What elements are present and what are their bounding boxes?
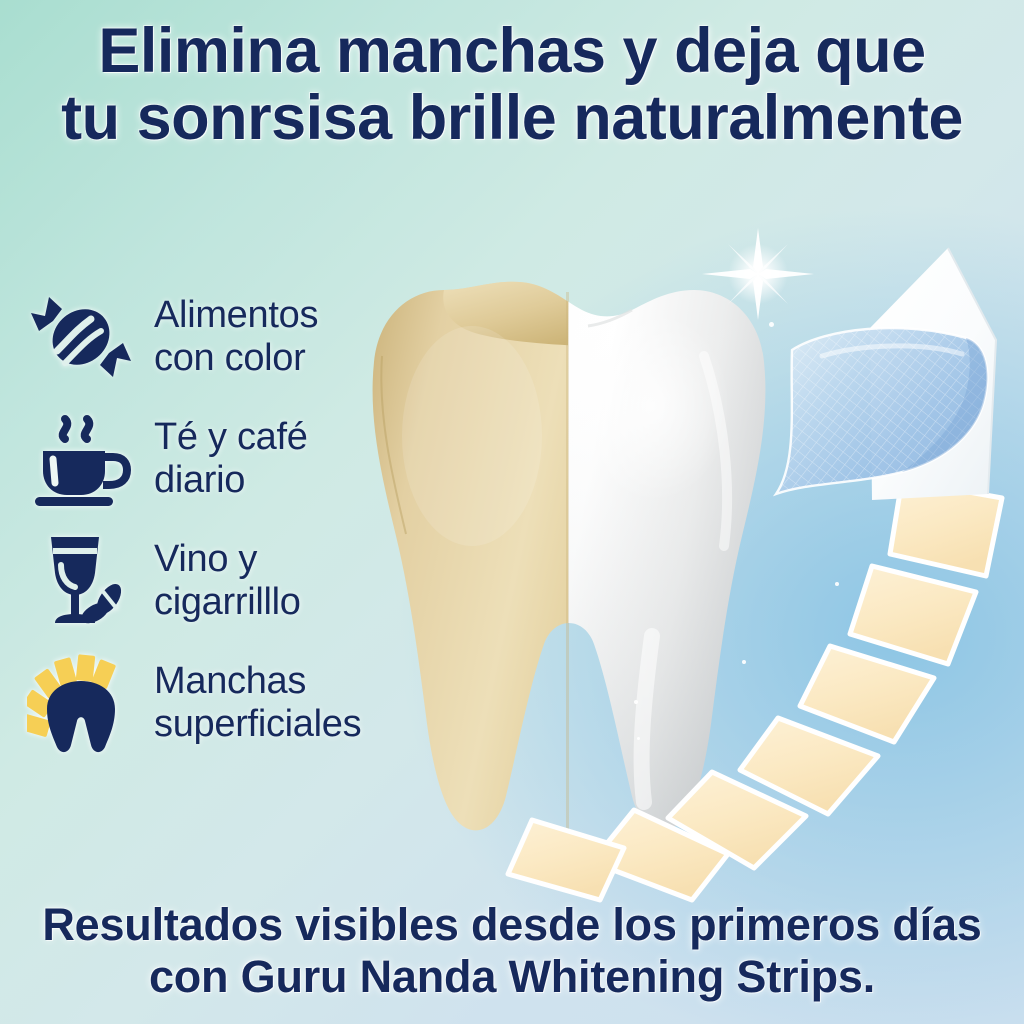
list-item-label: Alimentos con color: [154, 294, 318, 381]
shining-tooth-icon: [26, 651, 136, 755]
coffee-cup-icon: [26, 407, 136, 511]
list-item: [850, 566, 976, 664]
footer-caption: Resultados visibles desde los primeros d…: [0, 899, 1024, 1002]
list-item-label: Vino y cigarrilllo: [154, 538, 301, 625]
list-item-label: Té y café diario: [154, 416, 308, 503]
whitening-strip-peel: [752, 232, 1024, 522]
list-item: [800, 646, 934, 742]
list-item: Alimentos con color: [26, 276, 386, 398]
list-item: [508, 820, 624, 900]
candy-icon: [26, 285, 136, 389]
wine-cigarette-icon: [26, 529, 136, 633]
list-item: Vino y cigarrilllo: [26, 520, 386, 642]
list-item: Manchas superficiales: [26, 642, 386, 764]
list-item: Té y café diario: [26, 398, 386, 520]
stain-causes-list: Alimentos con color Té y café diario: [26, 276, 386, 764]
ad-poster: Elimina manchas y deja que tu sonrsisa b…: [0, 0, 1024, 1024]
page-title: Elimina manchas y deja que tu sonrsisa b…: [0, 18, 1024, 152]
strip-segment-arc: [572, 470, 1024, 900]
list-item-label: Manchas superficiales: [154, 660, 361, 747]
